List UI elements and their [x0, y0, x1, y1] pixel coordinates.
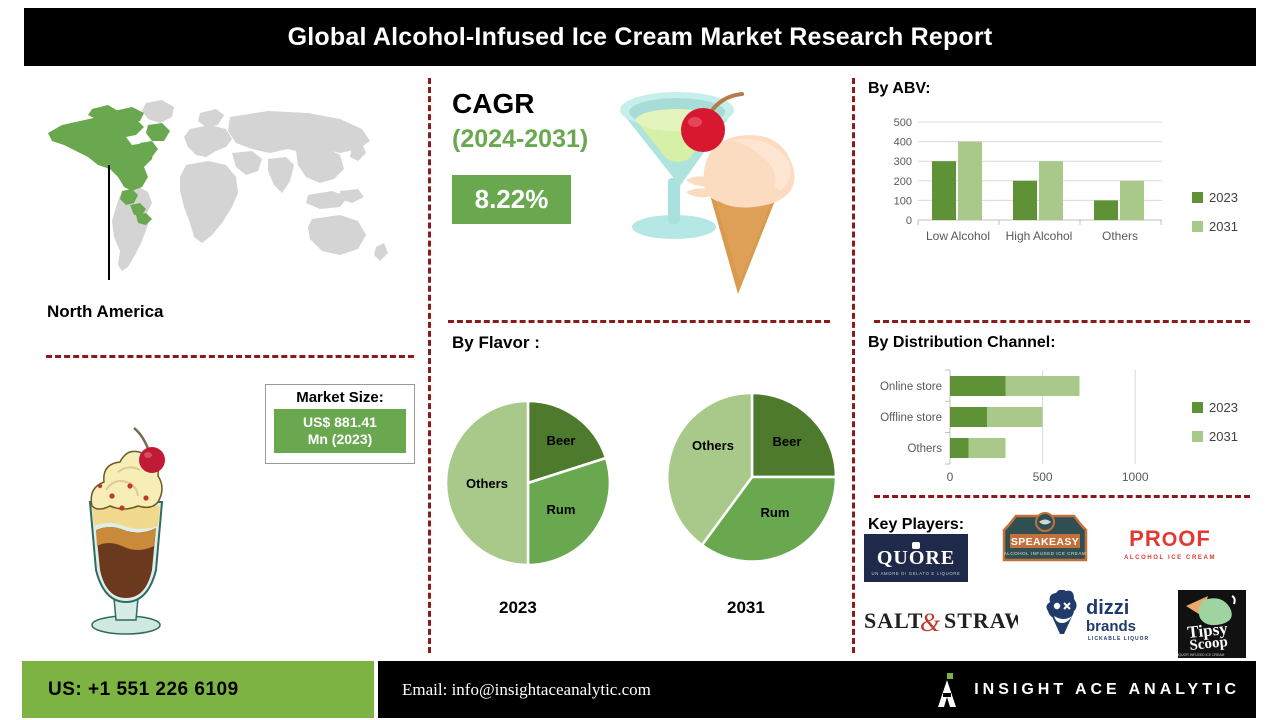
- cagr-years: (2024-2031): [452, 125, 588, 154]
- svg-text:500: 500: [1033, 470, 1053, 484]
- svg-text:LIQUOR INFUSED ICE CREAM: LIQUOR INFUSED ICE CREAM: [1178, 653, 1224, 657]
- bar-chart-by-distribution-channel: Online store Offline store Others 0 500 …: [862, 366, 1182, 491]
- pie-label-2023: 2023: [499, 598, 537, 618]
- market-size-value-line1: US$ 881.41: [303, 414, 377, 432]
- divider-horizontal-right-top: [874, 320, 1250, 323]
- infographic-page: Global Alcohol-Infused Ice Cream Market …: [0, 0, 1280, 720]
- svg-text:ALCOHOL ICE CREAM: ALCOHOL ICE CREAM: [1124, 555, 1216, 561]
- logo-dizzi-brands: dizzi brands LICKABLE LIQUORS: [1030, 590, 1148, 646]
- logo-tipsy-scoop: Tipsy Scoop LIQUOR INFUSED ICE CREAM: [1178, 590, 1246, 658]
- logo-salt-and-straw: SALT & STRAW: [860, 598, 1018, 642]
- legend-label-2031: 2031: [1209, 429, 1238, 444]
- cagr-value-box: 8.22%: [452, 175, 571, 224]
- footer-phone-text: US: +1 551 226 6109: [48, 679, 239, 701]
- page-title: Global Alcohol-Infused Ice Cream Market …: [288, 23, 993, 52]
- legend-item-2031: 2031: [1192, 219, 1238, 234]
- divider-horizontal-right-bottom: [874, 495, 1250, 498]
- brand-name: INSIGHT ACE ANALYTIC: [974, 681, 1240, 699]
- legend-by-distribution-channel: 2023 2031: [1192, 400, 1238, 444]
- bar-chart-by-abv: 500 400 300 200 100 0 Low Alcohol High A…: [872, 112, 1190, 252]
- legend-item-2023: 2023: [1192, 190, 1238, 205]
- svg-text:PROOF: PROOF: [1129, 526, 1211, 551]
- pie-chart-by-flavor-2031: Beer Rum Others: [665, 390, 839, 564]
- svg-text:LICKABLE LIQUORS: LICKABLE LIQUORS: [1088, 636, 1148, 642]
- legend-label-2023: 2023: [1209, 400, 1238, 415]
- svg-text:0: 0: [906, 215, 912, 227]
- region-label: North America: [47, 302, 164, 322]
- svg-text:&: &: [920, 608, 941, 637]
- svg-text:brands: brands: [1086, 618, 1136, 635]
- legend-item-2031: 2031: [1192, 429, 1238, 444]
- logo-speakeasy: SPEAKEASY ALCOHOL INFUSED ICE CREAM: [996, 508, 1094, 570]
- svg-text:SPEAKEASY: SPEAKEASY: [1011, 536, 1079, 548]
- svg-text:SALT: SALT: [864, 608, 923, 633]
- brand-logo: INSIGHT ACE ANALYTIC: [934, 661, 1240, 718]
- svg-text:1000: 1000: [1122, 470, 1149, 484]
- svg-text:Offline store: Offline store: [880, 412, 942, 424]
- svg-text:Beer: Beer: [773, 434, 802, 449]
- svg-text:Others: Others: [907, 443, 942, 455]
- market-size-title: Market Size:: [296, 389, 384, 406]
- svg-text:Others: Others: [466, 476, 508, 491]
- divider-vertical-left: [428, 78, 431, 653]
- footer-phone-block: US: +1 551 226 6109: [22, 661, 374, 718]
- svg-text:dizzi: dizzi: [1086, 597, 1129, 619]
- svg-text:300: 300: [894, 156, 912, 168]
- svg-text:QUORE: QUORE: [877, 547, 955, 569]
- map-pointer-line: [108, 165, 110, 280]
- svg-text:500: 500: [894, 117, 912, 129]
- insight-ace-a-mark-icon: [934, 673, 960, 707]
- market-size-box: Market Size: US$ 881.41 Mn (2023): [265, 384, 415, 464]
- header-banner: Global Alcohol-Infused Ice Cream Market …: [24, 8, 1256, 66]
- legend-swatch-2031: [1192, 221, 1203, 232]
- svg-text:High Alcohol: High Alcohol: [1006, 229, 1073, 243]
- svg-text:ALCOHOL INFUSED ICE CREAM: ALCOHOL INFUSED ICE CREAM: [1004, 551, 1087, 556]
- svg-text:0: 0: [947, 470, 954, 484]
- svg-text:UN AMORE DI GELATO E LIQUORE: UN AMORE DI GELATO E LIQUORE: [871, 571, 960, 576]
- legend-label-2031: 2031: [1209, 219, 1238, 234]
- by-distribution-channel-title: By Distribution Channel:: [868, 334, 1056, 352]
- pie-label-2031: 2031: [727, 598, 765, 618]
- divider-vertical-right: [852, 78, 855, 653]
- svg-text:STRAW: STRAW: [944, 608, 1018, 633]
- divider-horizontal-left: [46, 355, 414, 358]
- footer-main-block: Email: info@insightaceanalytic.com INSIG…: [378, 661, 1256, 718]
- market-size-value: US$ 881.41 Mn (2023): [274, 409, 406, 453]
- legend-swatch-2031: [1192, 431, 1203, 442]
- svg-text:Others: Others: [692, 438, 734, 453]
- svg-text:400: 400: [894, 137, 912, 149]
- svg-text:Rum: Rum: [547, 502, 576, 517]
- svg-text:Rum: Rum: [761, 505, 790, 520]
- cagr-value: 8.22%: [475, 184, 549, 215]
- logo-proof: PROOF ALCOHOL ICE CREAM: [1118, 524, 1222, 566]
- by-flavor-title: By Flavor :: [452, 333, 540, 353]
- sundae-illustration: [62, 420, 190, 642]
- legend-item-2023: 2023: [1192, 400, 1238, 415]
- legend-swatch-2023: [1192, 402, 1203, 413]
- legend-by-abv: 2023 2031: [1192, 190, 1238, 234]
- svg-text:Others: Others: [1102, 229, 1138, 243]
- divider-horizontal-center: [448, 320, 830, 323]
- svg-text:Beer: Beer: [547, 433, 576, 448]
- svg-text:Low Alcohol: Low Alcohol: [926, 229, 990, 243]
- logo-quore: QUORE UN AMORE DI GELATO E LIQUORE: [864, 534, 968, 582]
- key-players-title: Key Players:: [868, 516, 964, 534]
- legend-label-2023: 2023: [1209, 190, 1238, 205]
- pie-chart-by-flavor-2023: Beer Rum Others: [443, 398, 613, 568]
- svg-text:200: 200: [894, 176, 912, 188]
- by-abv-title: By ABV:: [868, 80, 931, 98]
- svg-text:100: 100: [894, 195, 912, 207]
- legend-swatch-2023: [1192, 192, 1203, 203]
- world-map: [40, 95, 420, 290]
- svg-text:Online store: Online store: [880, 381, 942, 393]
- market-size-value-line2: Mn (2023): [308, 431, 373, 449]
- footer-email-text: Email: info@insightaceanalytic.com: [402, 680, 651, 700]
- cocktail-and-cone-illustration: [612, 82, 837, 312]
- cagr-label: CAGR: [452, 88, 534, 120]
